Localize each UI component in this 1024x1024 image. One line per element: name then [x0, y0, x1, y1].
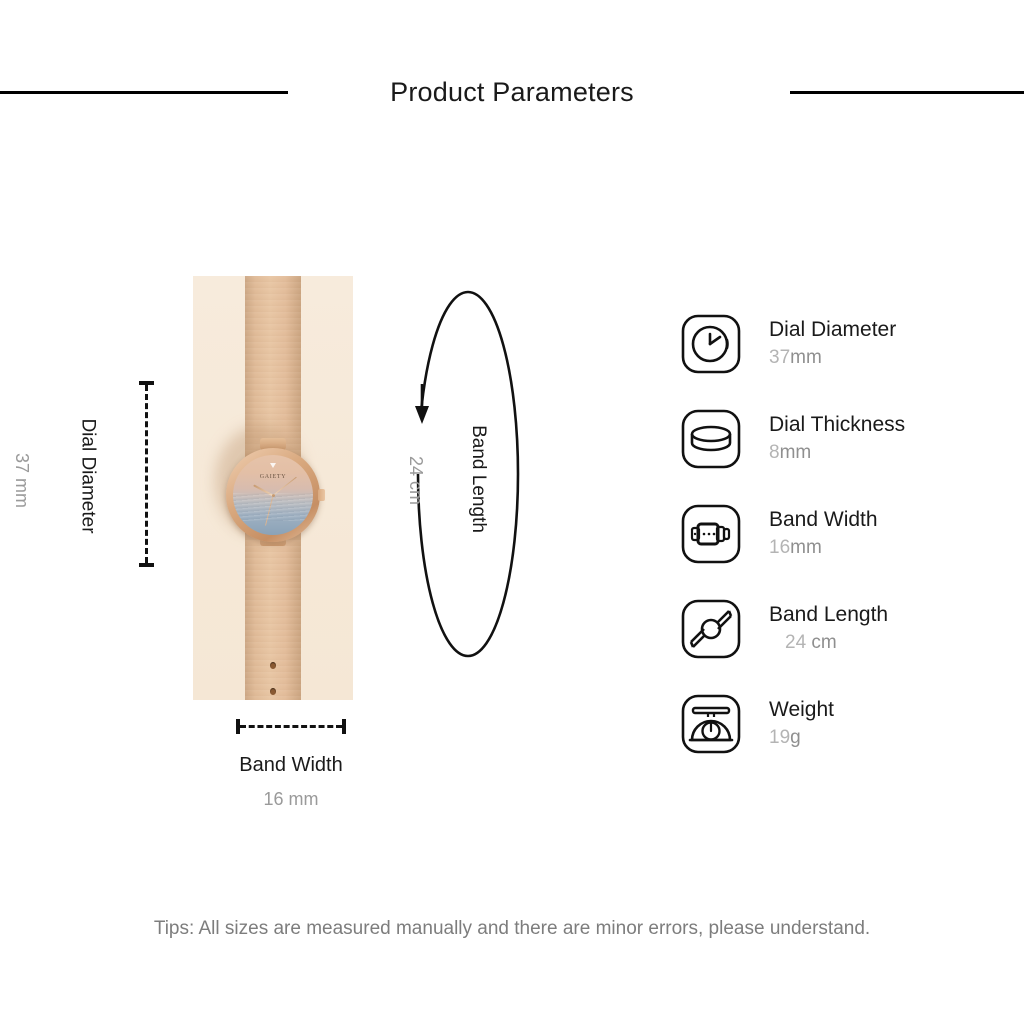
spec-label: Dial Diameter: [769, 317, 896, 343]
spec-row-dial-thickness: Dial Thickness 8mm: [676, 391, 1006, 486]
dimension-cap-right: [342, 719, 346, 734]
second-hand: [265, 495, 273, 525]
watch-dial-icon: [676, 309, 746, 379]
spec-value: 19g: [769, 725, 834, 751]
spec-value: 8mm: [769, 440, 905, 466]
strap-buckle-icon: [676, 499, 746, 569]
spec-row-dial-diameter: Dial Diameter 37mm: [676, 296, 1006, 391]
spec-row-band-length: Band Length 24 cm: [676, 581, 1006, 676]
dimension-dashed-line: [240, 725, 342, 728]
spec-label: Weight: [769, 697, 834, 723]
spec-number: 37: [769, 347, 790, 368]
dimension-dashed-line: [145, 385, 148, 563]
watch-dial: GAIETY: [233, 455, 313, 535]
hand-pin: [272, 494, 275, 497]
spec-row-weight: Weight 19g: [676, 676, 1006, 771]
kitchen-scale-icon: [676, 689, 746, 759]
spec-text-band-width: Band Width 16mm: [746, 507, 878, 561]
dimension-cap-bottom: [139, 563, 154, 567]
watch-lugs-icon: [676, 594, 746, 664]
spec-unit: mm: [790, 537, 822, 558]
header-rule-right: [790, 91, 1024, 94]
hour-hand: [253, 485, 273, 497]
watch-crown: [318, 489, 325, 501]
band-length-callout-value: 24 cm: [405, 456, 426, 505]
strap-hole: [270, 688, 276, 695]
spec-number: 8: [769, 442, 780, 463]
band-width-dimension-line: [236, 719, 346, 733]
spec-unit: g: [790, 727, 801, 748]
tips-note: Tips: All sizes are measured manually an…: [0, 918, 1024, 940]
spec-row-band-width: Band Width 16mm: [676, 486, 1006, 581]
header-rule-left: [0, 91, 288, 94]
spec-number: 24: [785, 632, 806, 653]
dial-diameter-callout-value: 37 mm: [11, 453, 32, 508]
spec-unit: mm: [790, 347, 822, 368]
strap-hole: [270, 662, 276, 669]
spec-text-dial-diameter: Dial Diameter 37mm: [746, 317, 896, 371]
spec-value: 24 cm: [769, 630, 888, 656]
spec-unit: mm: [780, 442, 812, 463]
band-width-callout-value: 16 mm: [193, 789, 389, 810]
dial-marker-12: [270, 463, 276, 468]
spec-value: 16mm: [769, 535, 878, 561]
spec-label: Band Width: [769, 507, 878, 533]
spec-text-band-length: Band Length 24 cm: [746, 602, 888, 656]
page-header: Product Parameters: [0, 64, 1024, 120]
band-length-callout-label: Band Length: [467, 425, 489, 533]
spec-label: Dial Thickness: [769, 412, 905, 438]
dial-diameter-callout-label: Dial Diameter: [77, 418, 99, 533]
specification-list: Dial Diameter 37mm Dial Thickness 8mm: [676, 296, 1006, 771]
dial-brand-text: GAIETY: [233, 474, 313, 480]
spec-text-dial-thickness: Dial Thickness 8mm: [746, 412, 905, 466]
spec-unit: cm: [806, 632, 837, 653]
watch-case: GAIETY: [226, 448, 320, 542]
disc-thickness-icon: [676, 404, 746, 474]
spec-number: 16: [769, 537, 790, 558]
spec-value: 37mm: [769, 345, 896, 371]
spec-label: Band Length: [769, 602, 888, 628]
product-photo: GAIETY: [193, 276, 353, 700]
dial-diameter-dimension-line: [139, 381, 153, 567]
band-width-callout-label: Band Width: [193, 754, 389, 777]
spec-number: 19: [769, 727, 790, 748]
spec-text-weight: Weight 19g: [746, 697, 834, 751]
page-title: Product Parameters: [390, 77, 634, 108]
